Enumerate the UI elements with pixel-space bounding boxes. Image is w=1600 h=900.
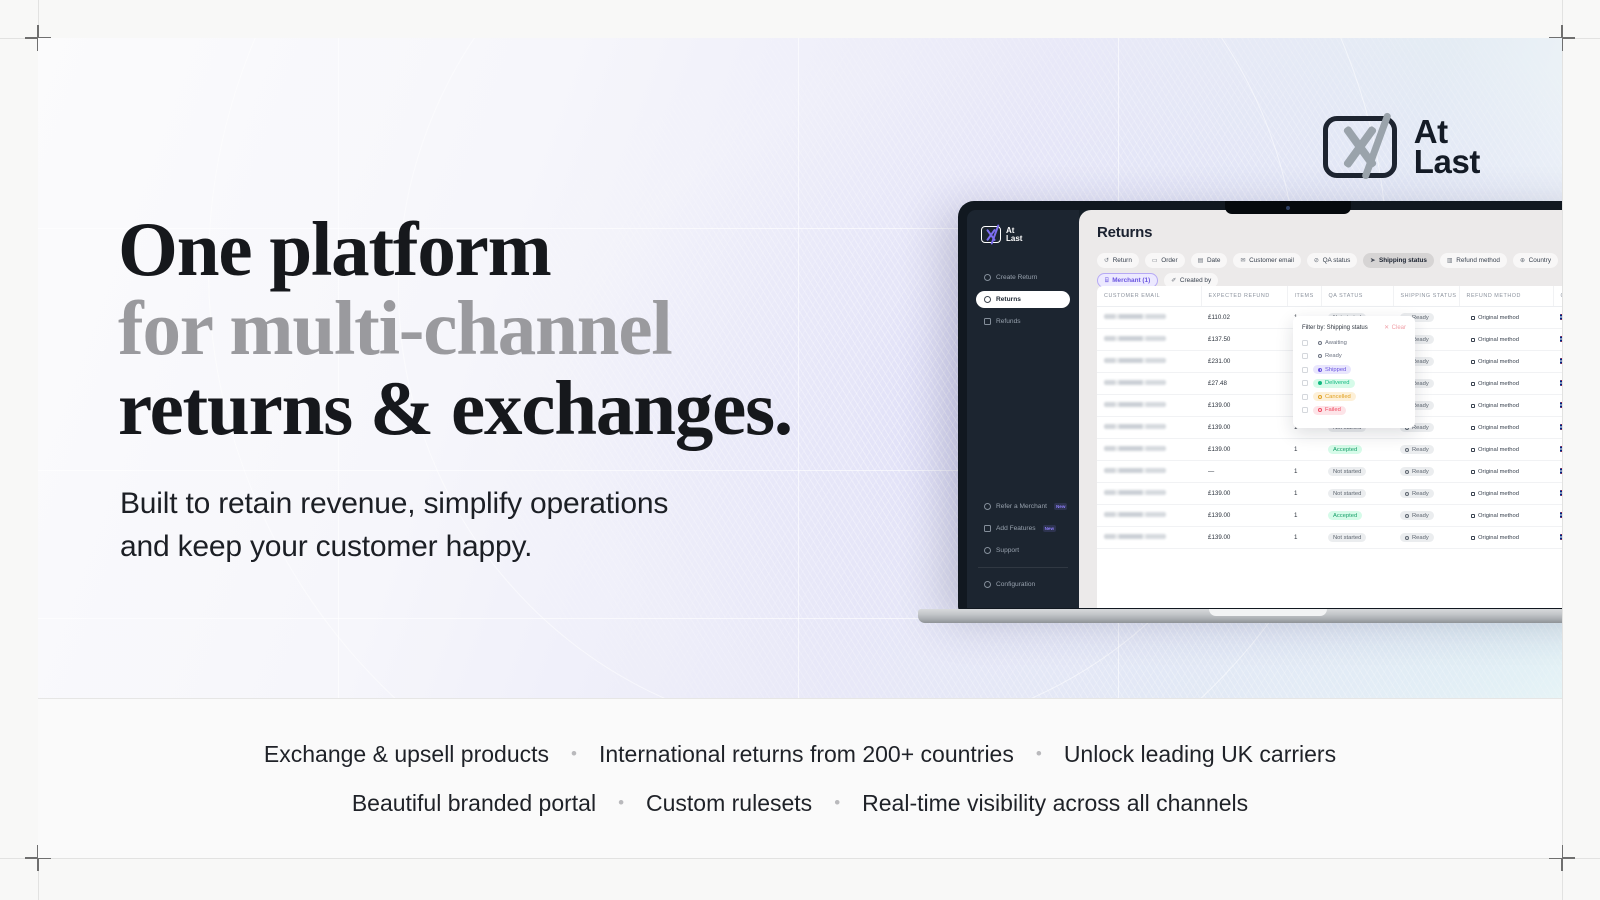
app-sidebar: At Last Create Return Returns [967,210,1079,608]
atlast-x-logo-icon [981,226,1001,243]
dropdown-option-delivered[interactable]: Delivered [1302,379,1406,388]
sidebar-item-label: Add Features [996,525,1036,532]
refund-method-label: Original method [1478,491,1519,497]
store-icon: ⌸ [1105,277,1109,285]
sidebar-nav-bottom: Refer a Merchant New Add Features New Su… [976,498,1070,598]
close-circle-icon: ✕ [1384,324,1389,331]
gb-flag-icon [1560,336,1562,342]
table-column-header[interactable]: QA STATUS [1321,286,1393,307]
cell-expected-refund: £139.00 [1201,527,1287,549]
cell-refund-method: Original method [1459,505,1553,527]
card-icon [1471,404,1475,408]
cell-country: GB [1553,483,1562,505]
refund-method-badge: Original method [1466,357,1524,366]
cell-qa-status: Not started [1321,527,1393,549]
feature-item: International returns from 200+ countrie… [599,741,1014,768]
cell-country: GB [1553,351,1562,373]
cell-customer-email [1097,505,1201,527]
cell-expected-refund: £110.02 [1201,307,1287,329]
cell-customer-email [1097,351,1201,373]
status-dot-icon [1405,470,1409,474]
clear-label: Clear [1392,325,1406,331]
status-badge: Delivered [1313,379,1355,388]
subhead-line-1: Built to retain revenue, simplify operat… [120,483,668,526]
gb-flag-icon [1560,358,1562,364]
poster-canvas: At Last One platform for multi-channel r… [0,0,1600,900]
cell-refund-method: Original method [1459,307,1553,329]
brand-wordmark: At Last [1414,117,1480,178]
cell-refund-method: Original method [1459,395,1553,417]
cell-expected-refund: £27.48 [1201,373,1287,395]
refund-method-label: Original method [1478,381,1519,387]
mail-icon: ✉ [1240,257,1245,264]
table-row[interactable]: £139.001AcceptedReadyOriginal methodGBEv… [1097,439,1562,461]
dropdown-option-failed[interactable]: Failed [1302,406,1406,415]
sidebar-item-refer-a-merchant[interactable]: Refer a Merchant New [976,498,1070,515]
checkbox[interactable] [1302,340,1308,346]
feature-item: Custom rulesets [646,790,812,817]
grid-plus-icon [984,525,991,532]
table-column-header[interactable]: EXPECTED REFUND [1201,286,1287,307]
refund-method-label: Original method [1478,337,1519,343]
status-dot-icon [1405,448,1409,452]
cell-customer-email [1097,307,1201,329]
filter-chip-label: Date [1207,257,1221,264]
cell-customer-email [1097,329,1201,351]
card-icon [1471,360,1475,364]
sidebar-item-support[interactable]: Support [976,542,1070,559]
sidebar-item-label: Create Return [996,274,1037,281]
status-badge: Ready [1400,511,1434,520]
refund-method-label: Original method [1478,315,1519,321]
cell-refund-method: Original method [1459,527,1553,549]
table-row[interactable]: £139.001Not startedReadyOriginal methodG… [1097,483,1562,505]
cell-customer-email [1097,439,1201,461]
brand-logo: At Last [1323,116,1480,178]
gb-flag-icon [1560,512,1562,518]
page-title: Returns [1097,224,1562,241]
feature-separator: • [618,793,624,813]
cell-shipping-status: Ready [1393,439,1459,461]
cell-expected-refund: £139.00 [1201,505,1287,527]
status-badge: Accepted [1328,445,1362,454]
headline-line-2: for multi-channel [118,289,792,368]
status-badge: Ready [1400,489,1434,498]
filter-toolbar: ↺Return▭Order▤Date✉Customer email⊘QA sta… [1097,253,1562,288]
receipt-icon [984,318,991,325]
gb-flag-icon [1560,534,1562,540]
redacted-email [1104,380,1166,385]
cell-expected-refund: £139.00 [1201,417,1287,439]
shipping-status-label: Ready [1412,535,1429,541]
card-icon [1471,338,1475,342]
cell-expected-refund: £139.00 [1201,395,1287,417]
status-badge: Not started [1328,467,1366,476]
filter-chip-label: QA status [1323,257,1351,264]
gb-flag-icon [1560,468,1562,474]
dropdown-option-label: Shipped [1325,367,1346,373]
app-logo: At Last [981,226,1070,243]
cell-items: 1 [1287,439,1321,461]
hero-subheadline: Built to retain revenue, simplify operat… [120,483,668,568]
dropdown-option-label: Failed [1325,407,1341,413]
cell-country: GB [1553,373,1562,395]
filter-chip-label: Order [1161,257,1177,264]
new-badge: New [1054,503,1067,510]
dropdown-option-label: Delivered [1325,380,1350,386]
dropdown-title: Filter by: Shipping status [1302,325,1368,331]
redacted-email [1104,358,1166,363]
sidebar-divider [978,567,1068,568]
sidebar-item-add-features[interactable]: Add Features New [976,520,1070,537]
redacted-email [1104,314,1166,319]
gb-flag-icon [1560,424,1562,430]
status-badge: Not started [1328,489,1366,498]
cell-refund-method: Original method [1459,329,1553,351]
status-badge: Ready [1400,533,1434,542]
checkbox[interactable] [1302,367,1308,373]
status-dot-icon [1405,514,1409,518]
subhead-line-2: and keep your customer happy. [120,526,668,569]
refund-method-label: Original method [1478,447,1519,453]
status-dot-icon [1405,536,1409,540]
refund-method-label: Original method [1478,513,1519,519]
check-circle-icon: ⊘ [1314,257,1319,264]
shipping-status-label: Ready [1412,491,1429,497]
redacted-email [1104,336,1166,341]
cell-shipping-status: Ready [1393,505,1459,527]
new-badge: New [1043,525,1056,532]
redacted-email [1104,512,1166,517]
filter-chip-country[interactable]: ⊕Country [1513,253,1558,268]
cell-customer-email [1097,461,1201,483]
cell-expected-refund: £137.50 [1201,329,1287,351]
table-column-header[interactable]: ITEMS [1287,286,1321,307]
cell-refund-method: Original method [1459,417,1553,439]
plus-circle-icon [984,274,991,281]
gb-flag-icon [1560,446,1562,452]
cell-country: GB [1553,461,1562,483]
refund-method-badge: Original method [1466,445,1524,454]
feature-separator: • [834,793,840,813]
send-icon: ➤ [1370,257,1375,264]
feature-row-1: Exchange & upsell products•International… [264,741,1336,768]
table-column-header[interactable]: COUNTRY [1553,286,1562,307]
webcam-icon [1286,206,1290,210]
redacted-email [1104,534,1166,539]
refund-method-badge: Original method [1466,401,1524,410]
dropdown-option-ready[interactable]: Ready [1302,352,1406,361]
sidebar-item-refunds[interactable]: Refunds [976,313,1070,330]
cell-qa-status: Not started [1321,461,1393,483]
status-badge: Cancelled [1313,392,1356,401]
card-icon [1471,316,1475,320]
feature-item: Unlock leading UK carriers [1064,741,1336,768]
filter-chip-qa-status[interactable]: ⊘QA status [1307,253,1357,268]
user-plus-icon [984,503,991,510]
refund-method-label: Original method [1478,425,1519,431]
gb-flag-icon [1560,380,1562,386]
status-badge: Failed [1313,406,1346,415]
redacted-email [1104,490,1166,495]
cell-customer-email [1097,483,1201,505]
table-column-header[interactable]: REFUND METHOD [1459,286,1553,307]
cell-refund-method: Original method [1459,483,1553,505]
refund-method-badge: Original method [1466,533,1524,542]
card-icon [1471,426,1475,430]
cell-refund-method: Original method [1459,373,1553,395]
cell-qa-status: Accepted [1321,439,1393,461]
dropdown-option-awaiting[interactable]: Awaiting [1302,338,1406,347]
feature-strip: Exchange & upsell products•International… [38,698,1562,858]
status-dot-icon [1318,395,1322,399]
refund-method-label: Original method [1478,535,1519,541]
sidebar-item-create-return[interactable]: Create Return [976,269,1070,286]
refund-method-badge: Original method [1466,511,1524,520]
card-icon [1471,470,1475,474]
card-icon [1471,448,1475,452]
headline-line-3: returns & exchanges. [118,369,792,448]
return-arrow-icon [984,296,991,303]
status-dot-icon [1405,492,1409,496]
cell-qa-status: Accepted [1321,505,1393,527]
cell-expected-refund: £231.00 [1201,351,1287,373]
cell-refund-method: Original method [1459,439,1553,461]
table-row[interactable]: £139.001AcceptedReadyOriginal methodGBEv… [1097,505,1562,527]
gear-icon [984,581,991,588]
refund-method-badge: Original method [1466,379,1524,388]
status-badge: Awaiting [1313,338,1352,347]
status-dot-icon [1318,381,1322,385]
filter-chip-label: Country [1529,257,1551,264]
status-badge: Ready [1400,445,1434,454]
cell-country: GB [1553,505,1562,527]
bag-icon: ▭ [1152,257,1158,264]
feature-item: Beautiful branded portal [352,790,596,817]
cell-customer-email [1097,373,1201,395]
calendar-icon: ▤ [1198,257,1204,264]
filter-chip-customer-email[interactable]: ✉Customer email [1233,253,1300,268]
filter-chip-label: Customer email [1249,257,1294,264]
sidebar-item-label: Configuration [996,581,1035,588]
laptop-mockup: At Last Create Return Returns [918,201,1562,661]
artboard: At Last One platform for multi-channel r… [38,38,1562,858]
laptop-lid: At Last Create Return Returns [958,201,1562,611]
clear-filter-button[interactable]: ✕ Clear [1384,324,1406,331]
refund-method-badge: Original method [1466,489,1524,498]
hero-gridline [798,38,799,698]
feature-separator: • [571,744,577,764]
filter-chip-return[interactable]: ↺Return [1097,253,1139,268]
pencil-icon: ✐ [1171,277,1176,284]
cell-customer-email [1097,527,1201,549]
cell-country: GB [1553,395,1562,417]
feature-separator: • [1036,744,1042,764]
cell-country: GB [1553,439,1562,461]
sidebar-item-label: Support [996,547,1019,554]
cell-refund-method: Original method [1459,461,1553,483]
shipping-status-label: Ready [1412,513,1429,519]
filter-chip-label: Created by [1180,277,1211,284]
gb-flag-icon [1560,314,1562,320]
card-icon: ▥ [1447,257,1453,264]
filter-chip-label: Shipping status [1379,257,1427,264]
dropdown-option-label: Cancelled [1325,394,1351,400]
redacted-email [1104,446,1166,451]
sidebar-item-configuration[interactable]: Configuration [976,576,1070,593]
dropdown-option-label: Ready [1325,353,1342,359]
cell-items: 1 [1287,461,1321,483]
app-main-content: Returns ↺Return▭Order▤Date✉Customer emai… [1079,210,1562,608]
return-arrow-icon: ↺ [1104,257,1109,264]
table-column-header[interactable]: SHIPPING STATUS [1393,286,1459,307]
cell-country: GB [1553,329,1562,351]
gb-flag-icon [1560,402,1562,408]
cell-refund-method: Original method [1459,351,1553,373]
cell-expected-refund: — [1201,461,1287,483]
redacted-email [1104,402,1166,407]
shipping-status-filter-dropdown[interactable]: Filter by: Shipping status ✕ Clear Await… [1293,316,1415,428]
cell-customer-email [1097,417,1201,439]
cell-expected-refund: £139.00 [1201,483,1287,505]
question-circle-icon [984,547,991,554]
refund-method-badge: Original method [1466,423,1524,432]
brand-name-line2: Last [1414,147,1480,177]
cell-expected-refund: £139.00 [1201,439,1287,461]
checkbox[interactable] [1302,407,1308,413]
card-icon [1471,514,1475,518]
sidebar-item-label: Returns [996,296,1021,303]
cell-items: 1 [1287,505,1321,527]
status-badge: Ready [1400,467,1434,476]
table-row[interactable]: —1Not startedReadyOriginal methodGBEvri [1097,461,1562,483]
filter-chip-label: Merchant (1) [1112,277,1150,284]
cell-shipping-status: Ready [1393,527,1459,549]
atlast-x-logo-icon [1323,116,1397,178]
app-screen: At Last Create Return Returns [967,210,1562,608]
sidebar-nav-top: Create Return Returns Refunds [976,269,1070,335]
status-dot-icon [1318,341,1322,345]
shipping-status-label: Ready [1412,425,1429,431]
laptop-notch [1225,201,1351,214]
shipping-status-label: Ready [1412,469,1429,475]
dropdown-header: Filter by: Shipping status ✕ Clear [1302,324,1406,331]
sidebar-item-label: Refunds [996,318,1021,325]
refund-method-label: Original method [1478,469,1519,475]
cell-shipping-status: Ready [1393,483,1459,505]
cell-country: GB [1553,307,1562,329]
filter-chip-shipping-status[interactable]: ➤Shipping status [1363,253,1434,268]
dropdown-option-list: AwaitingReadyShippedDeliveredCancelledFa… [1302,338,1406,415]
crop-guide-right [1562,0,1563,900]
cell-qa-status: Not started [1321,483,1393,505]
crop-guide-bottom [0,858,1600,859]
checkbox[interactable] [1302,380,1308,386]
card-icon [1471,382,1475,386]
status-badge: Ready [1313,352,1347,361]
cell-customer-email [1097,395,1201,417]
feature-item: Real-time visibility across all channels [862,790,1248,817]
cell-shipping-status: Ready [1393,461,1459,483]
status-dot-icon [1318,354,1322,358]
status-badge: Not started [1328,533,1366,542]
feature-item: Exchange & upsell products [264,741,549,768]
checkbox[interactable] [1302,394,1308,400]
card-icon [1471,492,1475,496]
dropdown-option-shipped[interactable]: Shipped [1302,365,1406,374]
status-dot-icon [1318,408,1322,412]
redacted-email [1104,468,1166,473]
refund-method-badge: Original method [1466,313,1524,322]
sidebar-spacer [976,335,1070,498]
feature-row-2: Beautiful branded portal•Custom rulesets… [352,790,1248,817]
app-logo-line2: Last [1006,235,1022,243]
laptop-base [918,609,1562,623]
headline-line-1: One platform [118,210,792,289]
refund-method-badge: Original method [1466,335,1524,344]
refund-method-badge: Original method [1466,467,1524,476]
table-row[interactable]: £139.001Not startedReadyOriginal methodG… [1097,527,1562,549]
checkbox[interactable] [1302,353,1308,359]
cell-country: GB [1553,417,1562,439]
filter-chip-refund-method[interactable]: ▥Refund method [1440,253,1507,268]
status-badge: Shipped [1313,365,1351,374]
cell-country: GB [1553,527,1562,549]
hero-headline: One platform for multi-channel returns &… [118,210,792,448]
filter-chip-date[interactable]: ▤Date [1191,253,1228,268]
table-column-header[interactable]: CUSTOMER EMAIL [1097,286,1201,307]
table-header-row: CUSTOMER EMAILEXPECTED REFUNDITEMSQA STA… [1097,286,1562,307]
card-icon [1471,536,1475,540]
redacted-email [1104,424,1166,429]
sidebar-item-returns[interactable]: Returns [976,291,1070,308]
sidebar-item-label: Refer a Merchant [996,503,1047,510]
cell-items: 1 [1287,483,1321,505]
refund-method-label: Original method [1478,359,1519,365]
filter-chip-order[interactable]: ▭Order [1145,253,1185,268]
filter-chip-label: Return [1113,257,1132,264]
status-dot-icon [1318,368,1322,372]
dropdown-option-label: Awaiting [1325,340,1347,346]
dropdown-option-cancelled[interactable]: Cancelled [1302,392,1406,401]
filter-chip-label: Refund method [1456,257,1500,264]
refund-method-label: Original method [1478,403,1519,409]
table-head: CUSTOMER EMAILEXPECTED REFUNDITEMSQA STA… [1097,286,1562,307]
status-badge: Accepted [1328,511,1362,520]
globe-icon: ⊕ [1520,257,1525,264]
gb-flag-icon [1560,490,1562,496]
shipping-status-label: Ready [1412,447,1429,453]
cell-items: 1 [1287,527,1321,549]
filter-chip-row-primary: ↺Return▭Order▤Date✉Customer email⊘QA sta… [1097,253,1562,268]
